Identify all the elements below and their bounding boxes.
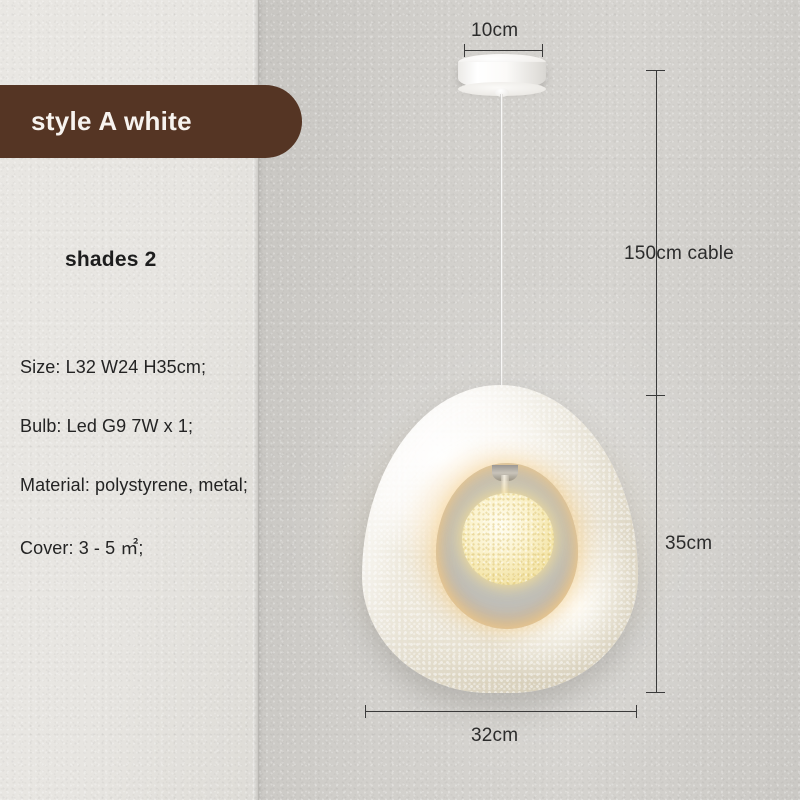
spec-material: Material: polystyrene, metal; (20, 475, 340, 496)
dimension-tick-shade-left (365, 705, 366, 718)
style-badge: style A white (0, 85, 302, 158)
led-bulb (462, 493, 554, 585)
bulb-stem (501, 475, 509, 495)
dimension-tick-vertical-mid (646, 395, 665, 396)
style-badge-label: style A white (0, 106, 192, 137)
dimension-tick-shade-right (636, 705, 637, 718)
dimension-line-shade-width (365, 711, 637, 712)
dimension-label-shade-width: 32cm (471, 725, 518, 747)
product-image-canvas: style A white shades 2 Size: L32 W24 H35… (0, 0, 800, 800)
dimension-label-shade-height: 35cm (665, 533, 712, 555)
dimension-tick-vertical-bottom (646, 692, 665, 693)
dimension-label-cable-length: 150cm cable (622, 243, 736, 265)
dimension-tick-vertical-top (646, 70, 665, 71)
spec-list: Size: L32 W24 H35cm; Bulb: Led G9 7W x 1… (20, 357, 340, 598)
shade-aperture (436, 463, 578, 629)
suspension-cable (500, 94, 503, 390)
spec-bulb: Bulb: Led G9 7W x 1; (20, 416, 340, 437)
dimension-tick-canopy-left (464, 44, 465, 57)
spec-size: Size: L32 W24 H35cm; (20, 357, 340, 378)
bulb-speckle-texture (462, 493, 554, 585)
dimension-label-canopy-width: 10cm (471, 20, 518, 42)
dimension-tick-canopy-right (542, 44, 543, 57)
dimension-line-canopy-width (464, 50, 543, 51)
spec-cover: Cover: 3 - 5 ㎡; (20, 534, 340, 560)
lamp-shade (362, 385, 638, 693)
dimension-line-vertical (656, 70, 657, 692)
product-heading: shades 2 (65, 248, 157, 272)
